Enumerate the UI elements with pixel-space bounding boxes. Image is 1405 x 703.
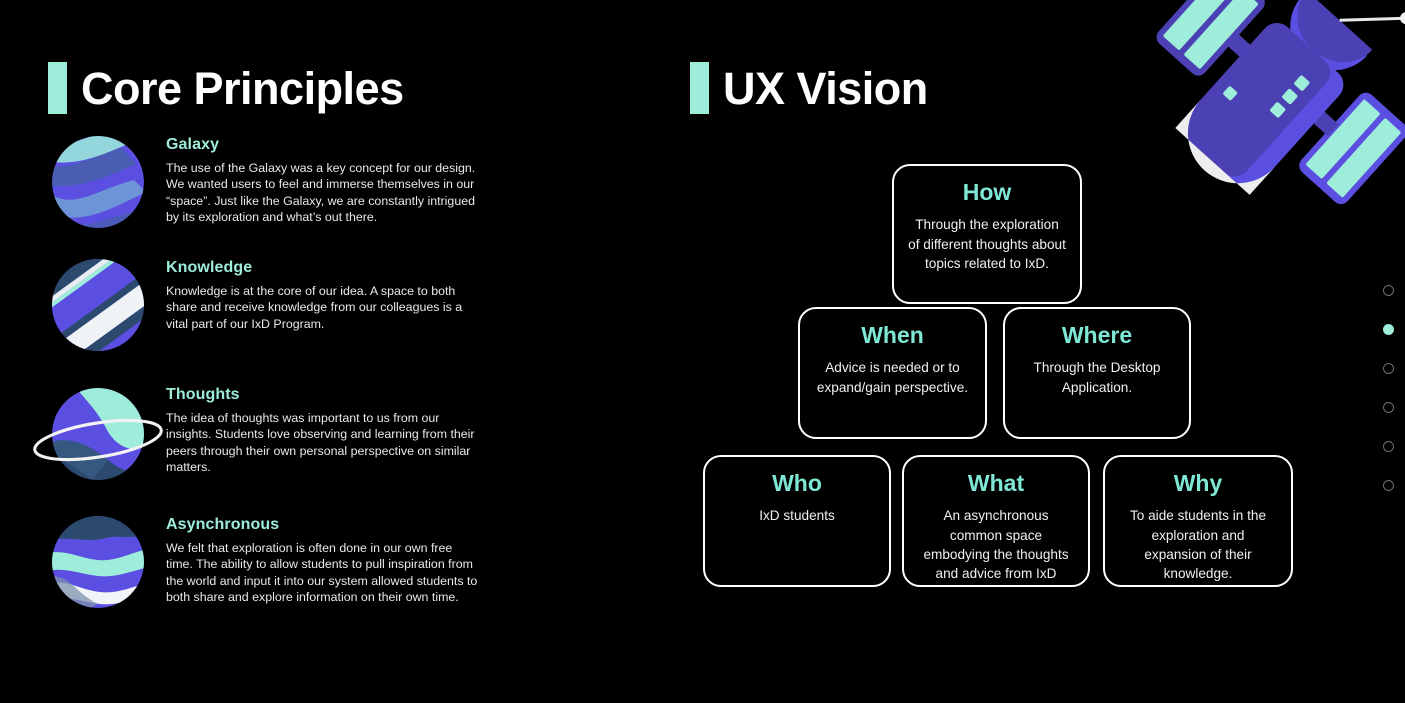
principle-title: Knowledge (166, 259, 500, 277)
principle-body: Thoughts The idea of thoughts was import… (166, 382, 500, 476)
card-text: IxD students (719, 506, 875, 525)
principle-body: Knowledge Knowledge is at the core of ou… (166, 255, 500, 332)
pager-dot-2[interactable] (1383, 324, 1394, 335)
planet-streaked-icon (30, 132, 166, 230)
core-principles-heading: Core Principles (48, 62, 404, 114)
principle-title: Thoughts (166, 386, 500, 404)
ux-vision-heading: UX Vision (690, 62, 928, 114)
pager-dot-3[interactable] (1383, 363, 1394, 374)
principle-description: Knowledge is at the core of our idea. A … (166, 283, 478, 332)
card-text: Through the Desktop Application. (1019, 358, 1175, 397)
pagination-dots[interactable] (1383, 285, 1394, 491)
list-item: Knowledge Knowledge is at the core of ou… (30, 255, 500, 353)
vision-card-when[interactable]: When Advice is needed or to expand/gain … (798, 307, 987, 439)
principle-description: The use of the Galaxy was a key concept … (166, 160, 478, 226)
card-text: An asynchronous common space embodying t… (918, 506, 1074, 583)
principle-description: The idea of thoughts was important to us… (166, 410, 478, 476)
page-title-vision: UX Vision (723, 66, 928, 111)
card-title: What (918, 471, 1074, 496)
list-item: Galaxy The use of the Galaxy was a key c… (30, 132, 500, 230)
pager-dot-1[interactable] (1383, 285, 1394, 296)
page-title-core: Core Principles (81, 66, 404, 111)
card-text: Through the exploration of different tho… (908, 215, 1066, 273)
accent-bar (48, 62, 67, 114)
list-item: Asynchronous We felt that exploration is… (30, 512, 500, 610)
principle-description: We felt that exploration is often done i… (166, 540, 478, 606)
pager-dot-6[interactable] (1383, 480, 1394, 491)
principle-body: Asynchronous We felt that exploration is… (166, 512, 500, 606)
card-title: How (908, 180, 1066, 205)
card-title: Who (719, 471, 875, 496)
principle-title: Asynchronous (166, 516, 500, 534)
principle-title: Galaxy (166, 136, 500, 154)
card-title: Why (1119, 471, 1277, 496)
accent-bar (690, 62, 709, 114)
card-title: Where (1019, 323, 1175, 348)
planet-ringed-icon (30, 382, 166, 484)
card-title: When (814, 323, 971, 348)
planet-banded-icon (30, 512, 166, 610)
vision-card-who[interactable]: Who IxD students (703, 455, 891, 587)
vision-card-where[interactable]: Where Through the Desktop Application. (1003, 307, 1191, 439)
vision-card-how[interactable]: How Through the exploration of different… (892, 164, 1082, 304)
planet-striped-icon (30, 255, 166, 353)
principles-list: Galaxy The use of the Galaxy was a key c… (30, 132, 500, 633)
card-text: Advice is needed or to expand/gain persp… (814, 358, 971, 397)
pager-dot-4[interactable] (1383, 402, 1394, 413)
list-item: Thoughts The idea of thoughts was import… (30, 382, 500, 484)
vision-card-why[interactable]: Why To aide students in the exploration … (1103, 455, 1293, 587)
vision-card-what[interactable]: What An asynchronous common space embody… (902, 455, 1090, 587)
vision-card-grid: How Through the exploration of different… (690, 150, 1310, 600)
principle-body: Galaxy The use of the Galaxy was a key c… (166, 132, 500, 226)
card-text: To aide students in the exploration and … (1119, 506, 1277, 583)
pager-dot-5[interactable] (1383, 441, 1394, 452)
